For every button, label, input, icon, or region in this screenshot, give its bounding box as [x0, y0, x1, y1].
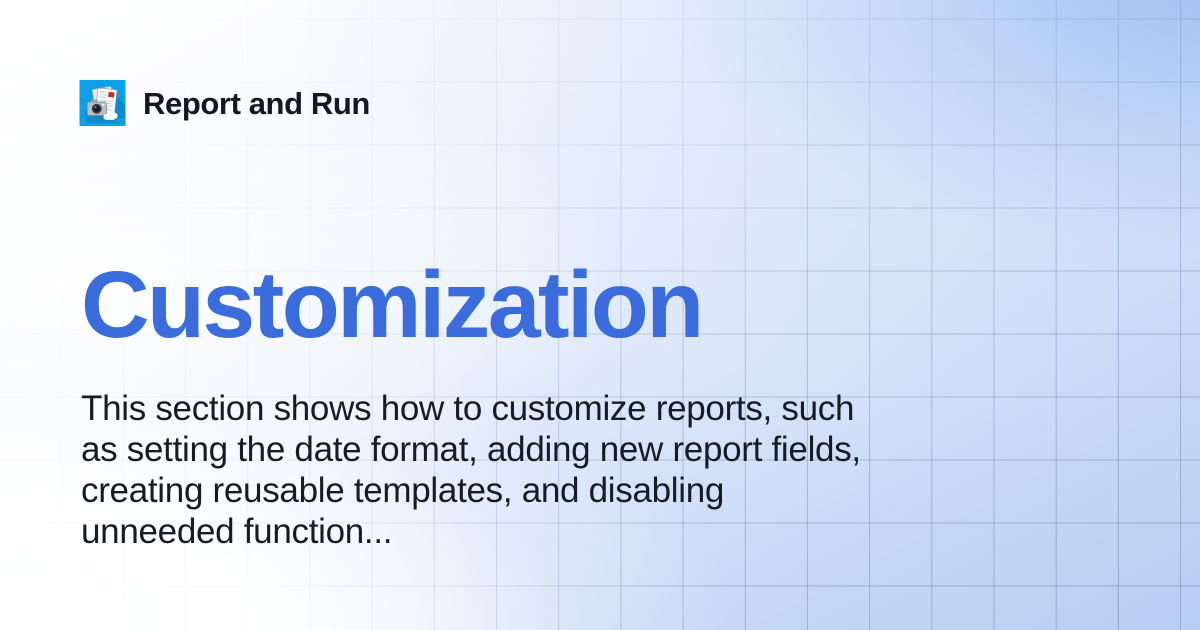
report-document-camera-cloud-icon [79, 80, 126, 126]
card-content: Report and Run Customization This sectio… [0, 0, 1200, 630]
page-title: Customization [81, 258, 702, 353]
brand-name: Report and Run [143, 88, 370, 119]
og-card: Report and Run Customization This sectio… [0, 0, 1200, 630]
page-description: This section shows how to customize repo… [81, 388, 881, 552]
brand-lockup: Report and Run [79, 80, 370, 126]
